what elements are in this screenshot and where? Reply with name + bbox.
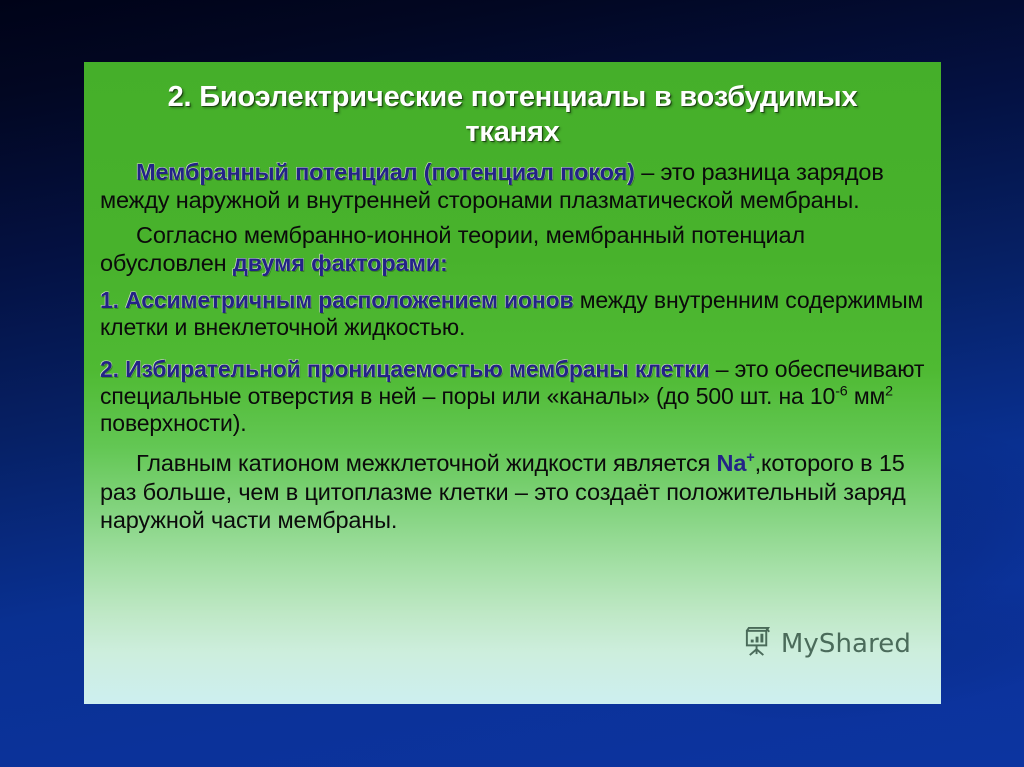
sodium-block: Главным катионом межклеточной жидкости я… [100,449,925,534]
content-panel: 2. Биоэлектрические потенциалы в возбуди… [84,62,941,704]
definition-term: Мембранный потенциал (потенциал покоя) [136,159,635,185]
factor-1-paragraph: 1. Ассиметричным расположением ионов меж… [100,287,925,342]
presentation-chart-icon [743,626,774,662]
sodium-lead-text: Главным катионом межклеточной жидкости я… [136,450,717,476]
page-title: 2. Биоэлектрические потенциалы в возбуди… [100,80,925,151]
theory-highlight: двумя факторами: [233,250,448,276]
theory-lead-text: Согласно мембранно-ионной теории, мембра… [100,222,805,276]
factor-2-text-middle: мм [848,383,886,409]
slide-background: 2. Биоэлектрические потенциалы в возбуди… [0,0,1024,767]
definition-paragraph: Мембранный потенциал (потенциал покоя) –… [100,159,925,215]
myshared-watermark-label: MyShared [781,629,911,659]
factor-2-block: 2. Избирательной проницаемостью мембраны… [100,356,925,438]
sodium-ion-charge: + [746,451,754,467]
definition-block: Мембранный потенциал (потенциал покоя) –… [100,159,925,215]
sodium-ion-symbol: Na+ [717,450,755,476]
theory-paragraph: Согласно мембранно-ионной теории, мембра… [100,222,925,278]
factor-2-paragraph: 2. Избирательной проницаемостью мембраны… [100,356,925,438]
factor-1-heading: 1. Ассиметричным расположением ионов [100,287,574,313]
factor-2-text-after: поверхности). [100,410,247,436]
sodium-ion-element: Na [717,450,747,476]
sodium-paragraph: Главным катионом межклеточной жидкости я… [100,449,925,534]
factor-2-exponent-minus-six: -6 [835,383,847,399]
factor-2-heading: 2. Избирательной проницаемостью мембраны… [100,356,709,382]
factor-2-exponent-squared: 2 [885,383,893,399]
myshared-watermark: MyShared [743,626,911,662]
factor-1-block: 1. Ассиметричным расположением ионов меж… [100,287,925,342]
theory-block: Согласно мембранно-ионной теории, мембра… [100,222,925,278]
